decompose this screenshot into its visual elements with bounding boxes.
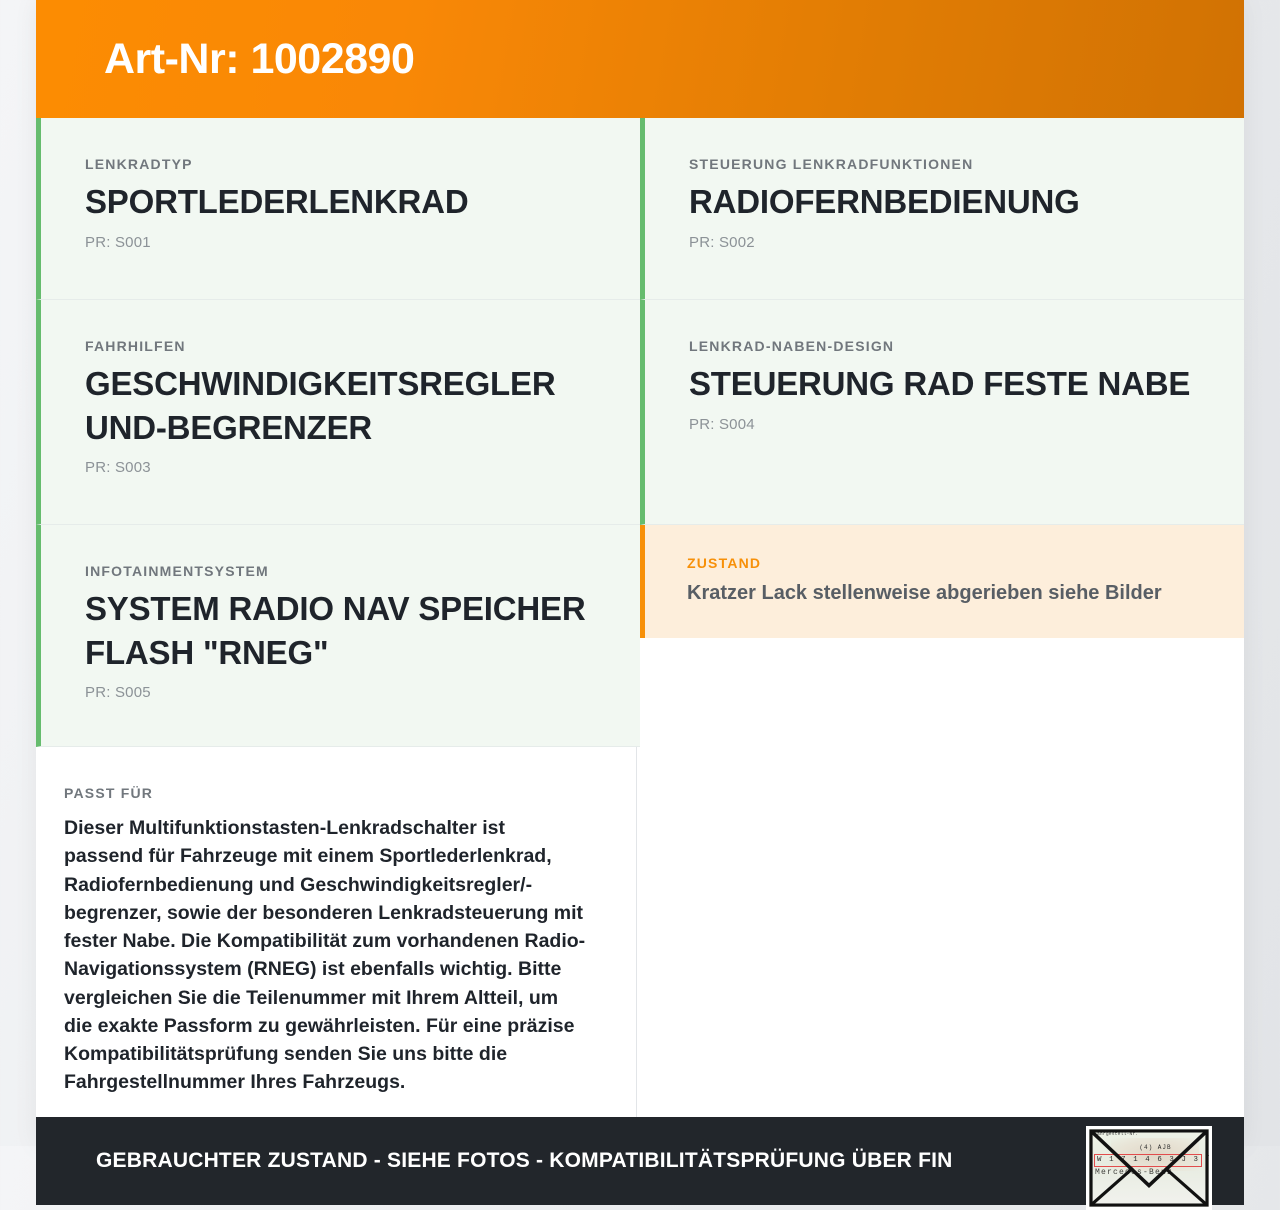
vehicle-registration-thumbnail: Fahrgestell-Nr. (4) AJB W 1 7 1 4 6 3 J … — [1086, 1126, 1212, 1210]
spec-cell-steuerung-lenkradfunktionen: STEUERUNG LENKRADFUNKTIONEN RADIOFERNBED… — [640, 118, 1244, 300]
spec-label: LENKRAD-NABEN-DESIGN — [689, 338, 1200, 354]
spec-pr-code: PR: S004 — [689, 416, 1200, 433]
spec-label: FAHRHILFEN — [85, 338, 596, 354]
spec-label: STEUERUNG LENKRADFUNKTIONEN — [689, 156, 1200, 172]
condition-panel: ZUSTAND Kratzer Lack stellenweise abgeri… — [640, 525, 1244, 638]
spec-value: GESCHWINDIGKEITSREGLER UND-BEGRENZER — [85, 362, 596, 449]
spec-cell-fahrhilfen: FAHRHILFEN GESCHWINDIGKEITSREGLER UND-BE… — [36, 300, 640, 525]
spec-cell-infotainmentsystem: INFOTAINMENTSYSTEM SYSTEM RADIO NAV SPEI… — [36, 525, 640, 747]
footer-text: GEBRAUCHTER ZUSTAND - SIEHE FOTOS - KOMP… — [96, 1149, 953, 1173]
spec-value: RADIOFERNBEDIENUNG — [689, 180, 1200, 224]
condition-filler — [640, 638, 1244, 747]
article-number-header: Art-Nr: 1002890 — [36, 0, 1244, 118]
spec-label: LENKRADTYP — [85, 156, 596, 172]
spec-value: STEUERUNG RAD FESTE NABE — [689, 362, 1200, 406]
spec-label: INFOTAINMENTSYSTEM — [85, 563, 596, 579]
spec-value: SPORTLEDERLENKRAD — [85, 180, 596, 224]
condition-label: ZUSTAND — [687, 555, 1200, 571]
description-text: Dieser Multifunktionstasten-Lenkradschal… — [64, 814, 586, 1097]
description-label: PASST FÜR — [64, 785, 586, 801]
spec-pr-code: PR: S005 — [85, 684, 596, 701]
registration-document-image: Fahrgestell-Nr. (4) AJB W 1 7 1 4 6 3 J … — [1089, 1129, 1209, 1207]
specification-grid: LENKRADTYP SPORTLEDERLENKRAD PR: S001 ST… — [36, 118, 1244, 747]
condition-text: Kratzer Lack stellenweise abgerieben sie… — [687, 580, 1200, 606]
product-detail-page: Art-Nr: 1002890 LENKRADTYP SPORTLEDERLEN… — [0, 0, 1280, 1146]
description-row: PASST FÜR Dieser Multifunktionstasten-Le… — [36, 747, 1244, 1117]
footer-banner: GEBRAUCHTER ZUSTAND - SIEHE FOTOS - KOMP… — [36, 1117, 1244, 1205]
spec-pr-code: PR: S001 — [85, 234, 596, 251]
spec-pr-code: PR: S003 — [85, 459, 596, 476]
description-empty-column — [637, 747, 1244, 1117]
spec-value: SYSTEM RADIO NAV SPEICHER FLASH "RNEG" — [85, 587, 596, 674]
spec-cell-lenkradtyp: LENKRADTYP SPORTLEDERLENKRAD PR: S001 — [36, 118, 640, 300]
spec-pr-code: PR: S002 — [689, 234, 1200, 251]
spec-cell-lenkrad-naben-design: LENKRAD-NABEN-DESIGN STEUERUNG RAD FESTE… — [640, 300, 1244, 525]
description-panel: PASST FÜR Dieser Multifunktionstasten-Le… — [36, 747, 637, 1117]
product-card: Art-Nr: 1002890 LENKRADTYP SPORTLEDERLEN… — [36, 0, 1244, 1146]
envelope-icon — [1089, 1129, 1209, 1207]
page-title: Art-Nr: 1002890 — [36, 35, 414, 84]
condition-column: ZUSTAND Kratzer Lack stellenweise abgeri… — [640, 525, 1244, 747]
